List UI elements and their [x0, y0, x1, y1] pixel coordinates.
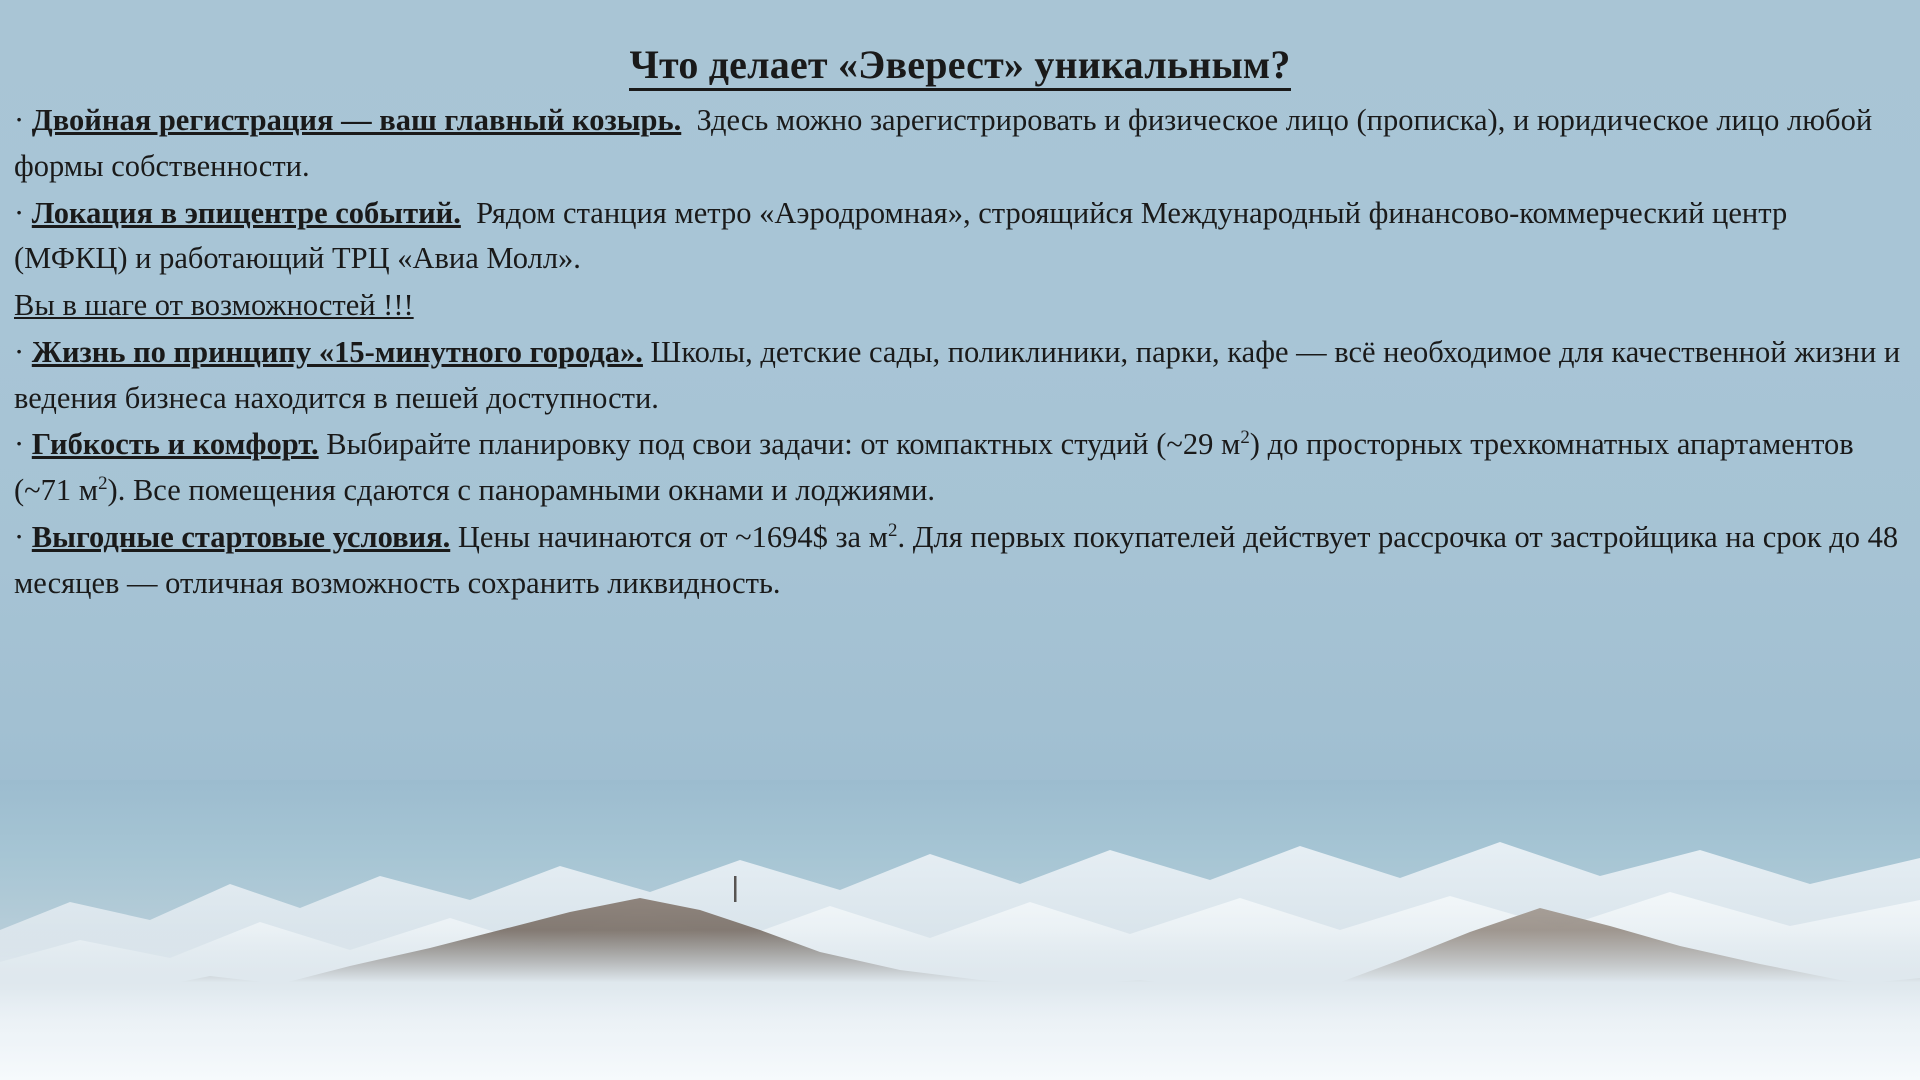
list-item: · Двойная регистрация — ваш главный козы…	[14, 98, 1902, 190]
presentation-slide: Что делает «Эверест» уникальным? · Двойн…	[0, 0, 1920, 1080]
list-item: · Выгодные стартовые условия. Цены начин…	[14, 515, 1902, 607]
bullet-marker: ·	[14, 520, 24, 554]
page-title: Что делает «Эверест» уникальным?	[0, 42, 1920, 88]
bullet-lead: Двойная регистрация — ваш главный козырь…	[32, 103, 681, 137]
bullet-text-pre: Выбирайте планировку под свои задачи: от…	[326, 427, 1240, 461]
list-item-followup: Вы в шаге от возможностей !!!	[14, 283, 1902, 329]
bullet-lead: Гибкость и комфорт.	[32, 427, 319, 461]
bullet-lead: Выгодные стартовые условия.	[32, 520, 450, 554]
square-meter-superscript: 2	[98, 473, 107, 494]
bullet-lead: Локация в эпицентре событий.	[32, 196, 461, 230]
bullet-list: · Двойная регистрация — ваш главный козы…	[0, 98, 1920, 606]
bullet-marker: ·	[14, 335, 24, 369]
mountain-photo	[0, 780, 1920, 1080]
list-item: · Жизнь по принципу «15-минутного города…	[14, 330, 1902, 422]
followup-text: Вы в шаге от возможностей !!!	[14, 288, 414, 322]
bullet-text-pre: Цены начинаются от ~1694$ за м	[458, 520, 888, 554]
bullet-marker: ·	[14, 427, 24, 461]
page-title-text: Что делает «Эверест» уникальным?	[629, 42, 1290, 91]
bullet-text-post: ). Все помещения сдаются с панорамными о…	[108, 473, 936, 507]
bullet-marker: ·	[14, 103, 24, 137]
list-item: · Гибкость и комфорт. Выбирайте планиров…	[14, 422, 1902, 514]
foreground-haze	[0, 990, 1920, 1080]
bullet-lead: Жизнь по принципу «15-минутного города».	[32, 335, 643, 369]
list-item: · Локация в эпицентре событий. Рядом ста…	[14, 191, 1902, 283]
bullet-marker: ·	[14, 196, 24, 230]
square-meter-superscript: 2	[1240, 427, 1249, 448]
slide-content: Что делает «Эверест» уникальным? · Двойн…	[0, 0, 1920, 607]
